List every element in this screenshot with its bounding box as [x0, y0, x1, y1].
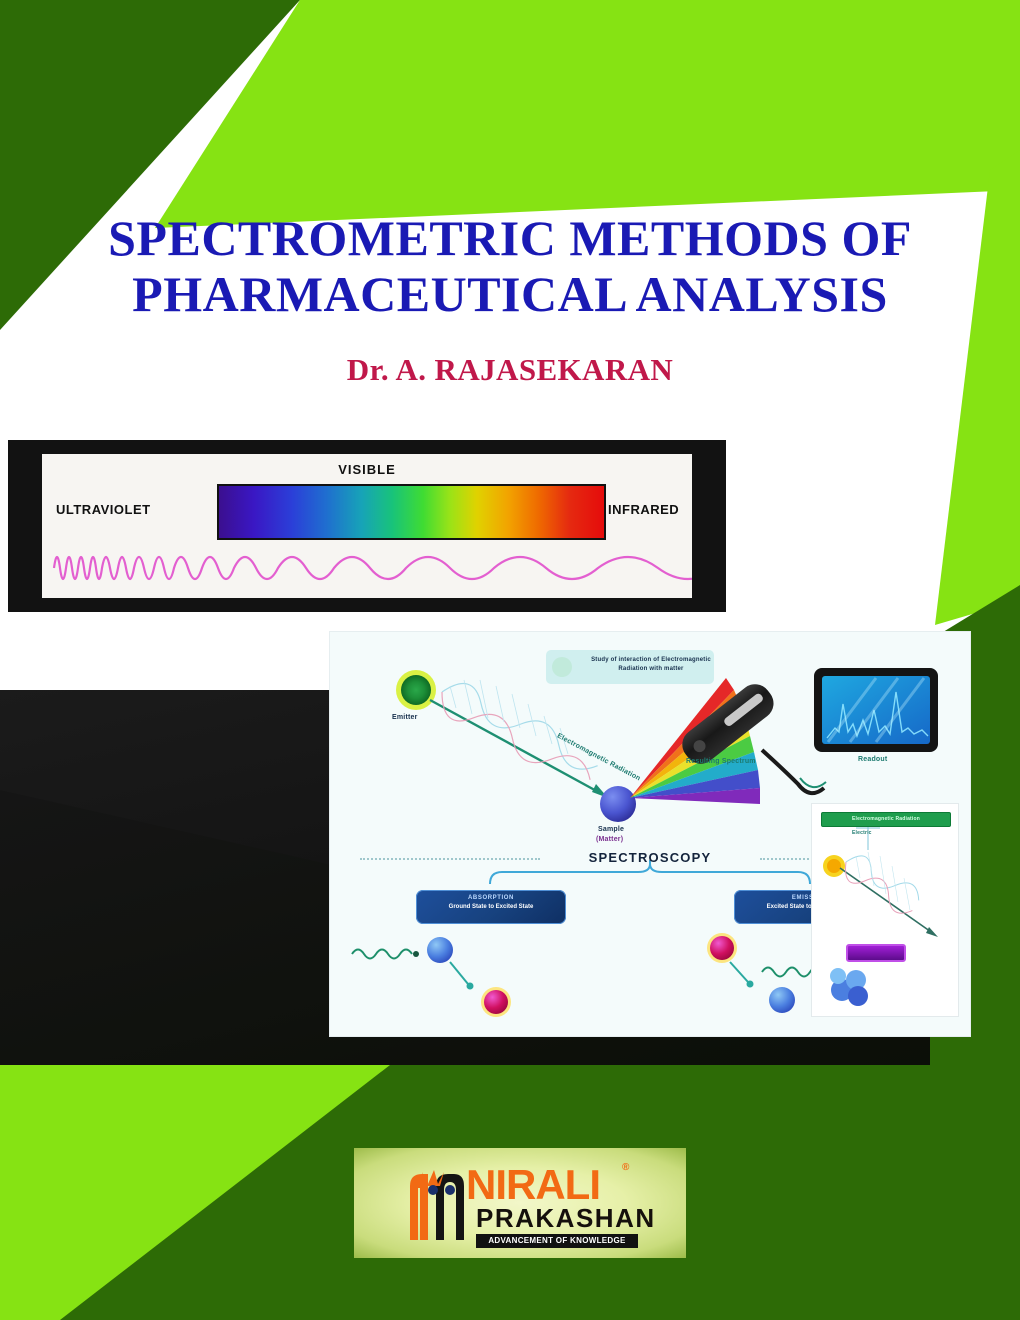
publisher-subtitle: PRAKASHAN	[476, 1205, 656, 1231]
author-name: Dr. A. RAJASEKARAN	[0, 352, 1020, 388]
process-box-absorption: ABSORPTION Ground State to Excited State	[416, 890, 566, 924]
spectroscopy-illustration: Emitter Electromagnetic Radiation Study …	[330, 632, 970, 1036]
sample-sublabel: (Matter)	[596, 836, 623, 843]
readout-label: Readout	[858, 756, 887, 763]
page-title-line-1: SPECTROMETRIC METHODS OF	[0, 210, 1020, 266]
title-block: SPECTROMETRIC METHODS OF PHARMACEUTICAL …	[0, 210, 1020, 388]
registered-mark-icon: ®	[622, 1162, 629, 1173]
inset-header: Electromagnetic Radiation	[821, 812, 951, 827]
shape-top-right-bright-green	[155, 0, 1020, 228]
spectrum-inner-panel: VISIBLE ULTRAVIOLET INFRARED	[42, 454, 692, 598]
visible-label: VISIBLE	[42, 462, 692, 477]
sample-label: Sample	[598, 826, 624, 833]
publisher-tagline: ADVANCEMENT OF KNOWLEDGE	[476, 1234, 638, 1248]
publisher-logo-plate: NIRALI ® PRAKASHAN ADVANCEMENT OF KNOWLE…	[354, 1148, 686, 1258]
infrared-label: INFRARED	[608, 502, 698, 517]
absorption-title: ABSORPTION	[416, 895, 566, 901]
publisher-name: NIRALI	[466, 1164, 600, 1206]
inset-wave-label: Electric	[852, 830, 872, 836]
ultraviolet-label: ULTRAVIOLET	[56, 502, 216, 517]
inset-panel-em-radiation: Electromagnetic Radiation	[812, 804, 958, 1016]
nirali-monogram-icon	[402, 1166, 472, 1242]
inset-purple-bar	[846, 944, 906, 962]
resulting-spectrum-label: Resulting Spectrum	[686, 758, 756, 765]
publisher-logo: NIRALI ® PRAKASHAN ADVANCEMENT OF KNOWLE…	[354, 1160, 686, 1246]
book-cover: SPECTROMETRIC METHODS OF PHARMACEUTICAL …	[0, 0, 1020, 1320]
page-title-line-2: PHARMACEUTICAL ANALYSIS	[0, 266, 1020, 322]
emitter-label: Emitter	[392, 714, 418, 721]
inset-graphics	[812, 804, 958, 1016]
absorption-subtitle: Ground State to Excited State	[416, 904, 566, 910]
wavelength-wave	[52, 542, 692, 594]
visible-spectrum-bar	[217, 484, 606, 540]
callout-label: Study of interaction of Electromagnetic …	[578, 656, 724, 674]
spectrum-strip: VISIBLE ULTRAVIOLET INFRARED	[8, 440, 726, 612]
